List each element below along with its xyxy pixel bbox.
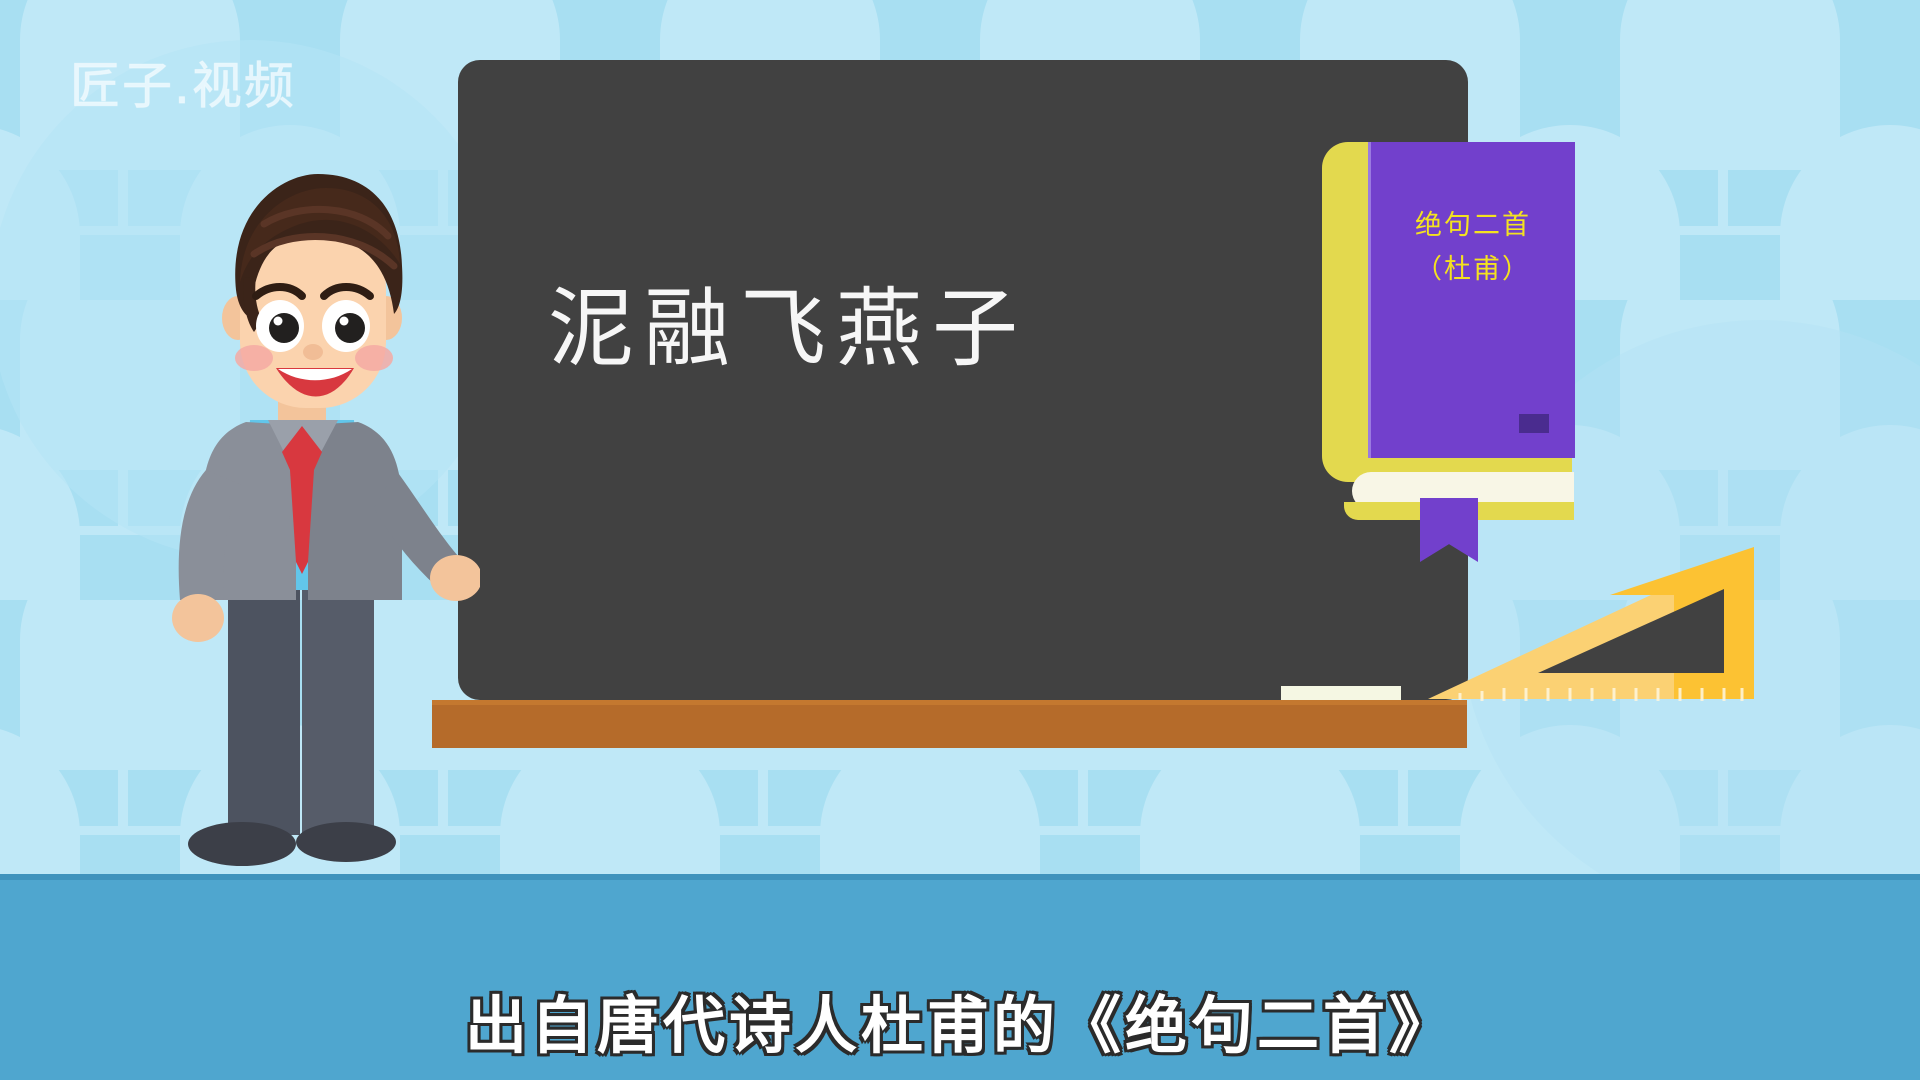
teacher-svg — [150, 170, 480, 890]
book-cover: 绝句二首 （杜甫） — [1368, 142, 1575, 458]
chalk-ledge-highlight — [432, 700, 1467, 705]
teacher-character — [150, 170, 480, 890]
blackboard: 泥融飞燕子 — [458, 60, 1468, 700]
video-frame: 匠子.视频 泥融飞燕子 绝句二首 （杜甫） — [0, 0, 1920, 1080]
watermark-logo: 匠子.视频 — [70, 46, 296, 118]
triangle-ruler — [1424, 543, 1754, 703]
blackboard-surface — [458, 60, 1468, 700]
chalk-ledge — [432, 700, 1467, 748]
book-title-block: 绝句二首 （杜甫） — [1371, 204, 1575, 292]
poem-book: 绝句二首 （杜甫） — [1322, 142, 1572, 482]
triangle-ruler-svg — [1424, 543, 1754, 703]
book-corner-square — [1519, 414, 1549, 433]
book-title-line1: 绝句二首 — [1371, 204, 1575, 248]
subtitle-caption: 出自唐代诗人杜甫的《绝句二首》 — [0, 975, 1920, 1065]
blackboard-line-text: 泥融飞燕子 — [548, 286, 1068, 372]
book-title-line2: （杜甫） — [1371, 248, 1575, 292]
chalk-eraser — [1281, 686, 1401, 701]
